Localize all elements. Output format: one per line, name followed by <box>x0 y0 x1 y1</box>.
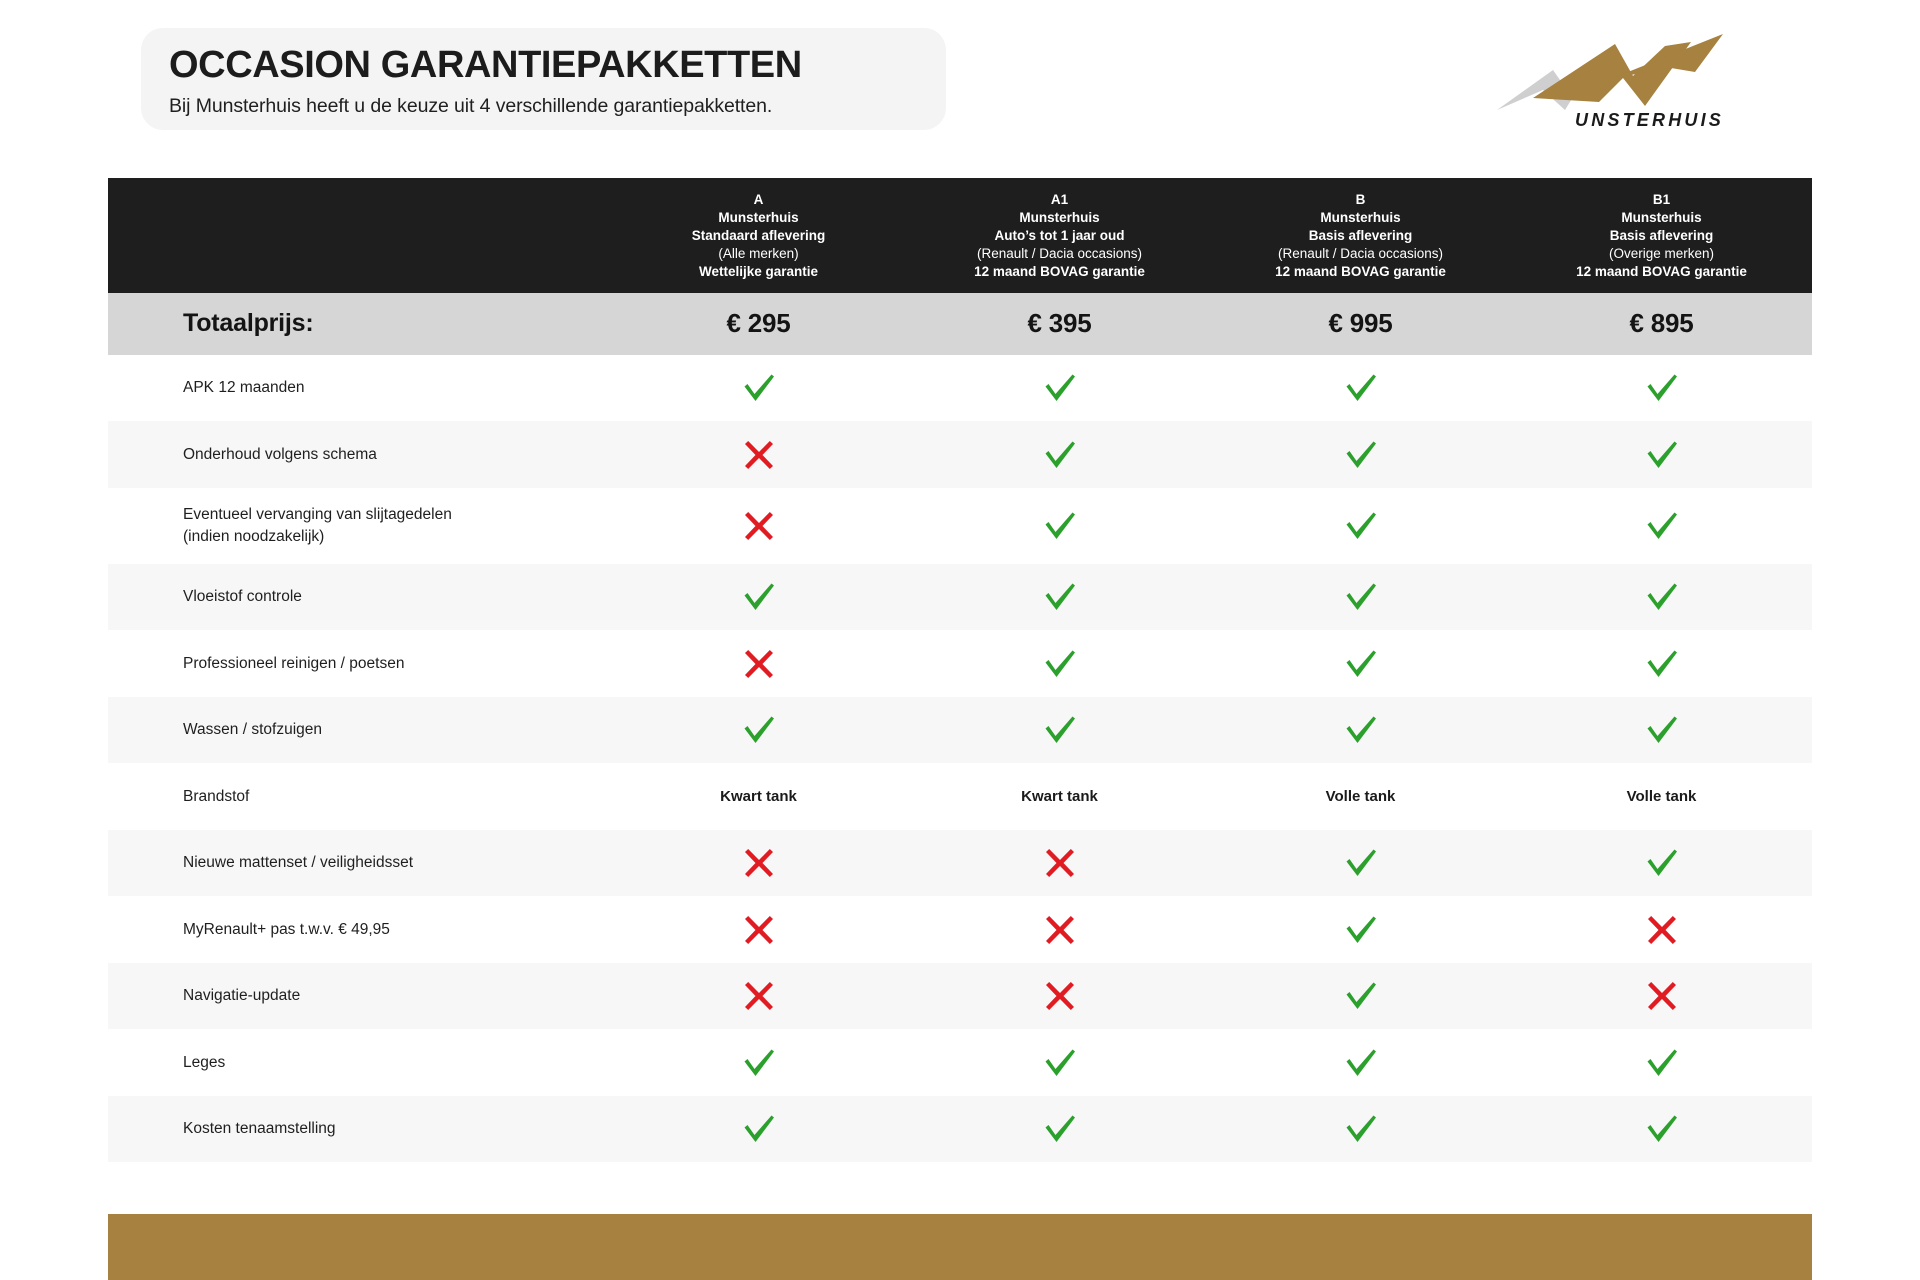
row-label: Vloeistof controle <box>108 586 608 608</box>
table-row: Onderhoud volgens schema <box>108 421 1812 488</box>
check-icon <box>1344 511 1378 541</box>
cell-b1 <box>1511 896 1812 963</box>
cell-a1 <box>909 963 1210 1030</box>
check-icon <box>1344 373 1378 403</box>
logo-mark-icon: UNSTERHUIS <box>1495 32 1725 132</box>
table-row: MyRenault+ pas t.w.v. € 49,95 <box>108 896 1812 963</box>
cell-b1 <box>1511 564 1812 631</box>
cell-a1 <box>909 830 1210 897</box>
column-header-a1: A1 Munsterhuis Auto’s tot 1 jaar oud (Re… <box>909 178 1210 293</box>
cell-a <box>608 896 909 963</box>
check-icon <box>1344 848 1378 878</box>
table-row: Kosten tenaamstelling <box>108 1096 1812 1163</box>
cell-a <box>608 1096 909 1163</box>
table-row: APK 12 maanden <box>108 355 1812 422</box>
cell-a1 <box>909 355 1210 422</box>
cell-a1 <box>909 1096 1210 1163</box>
check-icon <box>1344 915 1378 945</box>
cross-icon <box>744 915 774 945</box>
column-header-a: A Munsterhuis Standaard aflevering (Alle… <box>608 178 909 293</box>
column-header-b1: B1 Munsterhuis Basis aflevering (Overige… <box>1511 178 1812 293</box>
table-row: Navigatie-update <box>108 963 1812 1030</box>
cell-b1 <box>1511 1096 1812 1163</box>
check-icon <box>742 1048 776 1078</box>
check-icon <box>1645 511 1679 541</box>
column-code: B1 <box>1517 191 1806 209</box>
cell-a1: Kwart tank <box>909 763 1210 830</box>
cross-icon <box>744 649 774 679</box>
check-icon <box>1043 715 1077 745</box>
comparison-page: OCCASION GARANTIEPAKKETTEN Bij Munsterhu… <box>0 0 1920 1280</box>
cell-b <box>1210 355 1511 422</box>
column-header-b: B Munsterhuis Basis aflevering (Renault … <box>1210 178 1511 293</box>
cross-icon <box>1647 981 1677 1011</box>
column-code: B <box>1216 191 1505 209</box>
page-title: OCCASION GARANTIEPAKKETTEN <box>169 46 946 86</box>
check-icon <box>1645 440 1679 470</box>
column-warranty: 12 maand BOVAG garantie <box>1517 263 1806 281</box>
cell-b: Volle tank <box>1210 763 1511 830</box>
check-icon <box>1645 373 1679 403</box>
check-icon <box>1344 1114 1378 1144</box>
cell-a1 <box>909 488 1210 564</box>
cell-a <box>608 1029 909 1096</box>
check-icon <box>1645 582 1679 612</box>
footer-gold-bar <box>108 1214 1812 1280</box>
row-label: Leges <box>108 1052 608 1074</box>
cross-icon <box>744 440 774 470</box>
column-type: Basis aflevering <box>1517 227 1806 245</box>
cell-b1: Volle tank <box>1511 763 1812 830</box>
cell-a <box>608 421 909 488</box>
check-icon <box>742 1114 776 1144</box>
cell-b <box>1210 697 1511 764</box>
check-icon <box>1344 715 1378 745</box>
check-icon <box>1645 649 1679 679</box>
cell-a1 <box>909 697 1210 764</box>
row-label: MyRenault+ pas t.w.v. € 49,95 <box>108 919 608 941</box>
check-icon <box>1645 1114 1679 1144</box>
row-label: Brandstof <box>108 786 608 808</box>
cell-b1 <box>1511 1029 1812 1096</box>
table-row: Nieuwe mattenset / veiligheidsset <box>108 830 1812 897</box>
cell-a1 <box>909 630 1210 697</box>
cell-a <box>608 963 909 1030</box>
cross-icon <box>1647 915 1677 945</box>
table-row: Vloeistof controle <box>108 564 1812 631</box>
check-icon <box>1043 511 1077 541</box>
logo-wordmark: UNSTERHUIS <box>1575 110 1724 130</box>
cell-b1 <box>1511 630 1812 697</box>
table-row: Leges <box>108 1029 1812 1096</box>
price-b: € 995 <box>1210 308 1511 339</box>
check-icon <box>1043 582 1077 612</box>
cell-b1 <box>1511 421 1812 488</box>
cell-a: Kwart tank <box>608 763 909 830</box>
column-warranty: Wettelijke garantie <box>614 263 903 281</box>
column-scope: (Alle merken) <box>614 245 903 263</box>
cross-icon <box>1045 915 1075 945</box>
column-warranty: 12 maand BOVAG garantie <box>1216 263 1505 281</box>
cell-a1 <box>909 896 1210 963</box>
column-code: A <box>614 191 903 209</box>
column-code: A1 <box>915 191 1204 209</box>
column-scope: (Overige merken) <box>1517 245 1806 263</box>
row-label: Nieuwe mattenset / veiligheidsset <box>108 852 608 874</box>
total-price-label: Totaalprijs: <box>108 309 608 338</box>
column-brand: Munsterhuis <box>1517 209 1806 227</box>
column-brand: Munsterhuis <box>1216 209 1505 227</box>
packages-table: A Munsterhuis Standaard aflevering (Alle… <box>108 178 1812 1162</box>
check-icon <box>1645 1048 1679 1078</box>
column-type: Basis aflevering <box>1216 227 1505 245</box>
column-scope: (Renault / Dacia occasions) <box>1216 245 1505 263</box>
check-icon <box>1344 649 1378 679</box>
cell-b <box>1210 630 1511 697</box>
table-row: Professioneel reinigen / poetsen <box>108 630 1812 697</box>
row-label: Wassen / stofzuigen <box>108 719 608 741</box>
column-type: Standaard aflevering <box>614 227 903 245</box>
cell-b <box>1210 1029 1511 1096</box>
cell-a <box>608 564 909 631</box>
cell-a <box>608 630 909 697</box>
cell-b1 <box>1511 963 1812 1030</box>
check-icon <box>1344 1048 1378 1078</box>
check-icon <box>1043 373 1077 403</box>
column-type: Auto’s tot 1 jaar oud <box>915 227 1204 245</box>
cell-b <box>1210 564 1511 631</box>
column-scope: (Renault / Dacia occasions) <box>915 245 1204 263</box>
header-spacer <box>108 223 608 248</box>
cell-a <box>608 697 909 764</box>
check-icon <box>1344 981 1378 1011</box>
page-subtitle: Bij Munsterhuis heeft u de keuze uit 4 v… <box>169 95 946 118</box>
cell-b1 <box>1511 830 1812 897</box>
check-icon <box>1043 1048 1077 1078</box>
row-label: APK 12 maanden <box>108 377 608 399</box>
row-label: Onderhoud volgens schema <box>108 444 608 466</box>
cell-b1 <box>1511 355 1812 422</box>
feature-rows: APK 12 maandenOnderhoud volgens schemaEv… <box>108 355 1812 1163</box>
title-card: OCCASION GARANTIEPAKKETTEN Bij Munsterhu… <box>141 28 946 130</box>
row-label: Eventueel vervanging van slijtagedelen(i… <box>108 504 608 548</box>
check-icon <box>742 715 776 745</box>
check-icon <box>742 373 776 403</box>
table-row: Wassen / stofzuigen <box>108 697 1812 764</box>
cross-icon <box>744 848 774 878</box>
check-icon <box>1344 440 1378 470</box>
munsterhuis-logo: UNSTERHUIS <box>1495 32 1725 132</box>
cell-a <box>608 488 909 564</box>
cell-b <box>1210 488 1511 564</box>
check-icon <box>1645 715 1679 745</box>
cell-a <box>608 355 909 422</box>
cell-b <box>1210 963 1511 1030</box>
table-header-row: A Munsterhuis Standaard aflevering (Alle… <box>108 178 1812 293</box>
row-label: Professioneel reinigen / poetsen <box>108 653 608 675</box>
cell-b1 <box>1511 488 1812 564</box>
cell-a1 <box>909 1029 1210 1096</box>
cell-b <box>1210 896 1511 963</box>
column-brand: Munsterhuis <box>915 209 1204 227</box>
cross-icon <box>1045 848 1075 878</box>
cell-a1 <box>909 564 1210 631</box>
cross-icon <box>744 981 774 1011</box>
cell-a1 <box>909 421 1210 488</box>
check-icon <box>1645 848 1679 878</box>
check-icon <box>1043 1114 1077 1144</box>
cross-icon <box>744 511 774 541</box>
cell-b <box>1210 1096 1511 1163</box>
column-brand: Munsterhuis <box>614 209 903 227</box>
price-b1: € 895 <box>1511 308 1812 339</box>
cell-text: Volle tank <box>1326 788 1396 805</box>
check-icon <box>742 582 776 612</box>
price-a: € 295 <box>608 308 909 339</box>
cell-a <box>608 830 909 897</box>
table-row: Eventueel vervanging van slijtagedelen(i… <box>108 488 1812 564</box>
cell-b <box>1210 421 1511 488</box>
total-price-row: Totaalprijs: € 295 € 395 € 995 € 895 <box>108 293 1812 355</box>
row-label: Kosten tenaamstelling <box>108 1118 608 1140</box>
check-icon <box>1043 649 1077 679</box>
cell-b <box>1210 830 1511 897</box>
price-a1: € 395 <box>909 308 1210 339</box>
row-label: Navigatie-update <box>108 985 608 1007</box>
cross-icon <box>1045 981 1075 1011</box>
check-icon <box>1344 582 1378 612</box>
check-icon <box>1043 440 1077 470</box>
column-warranty: 12 maand BOVAG garantie <box>915 263 1204 281</box>
table-row: BrandstofKwart tankKwart tankVolle tankV… <box>108 763 1812 830</box>
cell-text: Kwart tank <box>720 788 797 805</box>
cell-text: Kwart tank <box>1021 788 1098 805</box>
cell-b1 <box>1511 697 1812 764</box>
cell-text: Volle tank <box>1627 788 1697 805</box>
